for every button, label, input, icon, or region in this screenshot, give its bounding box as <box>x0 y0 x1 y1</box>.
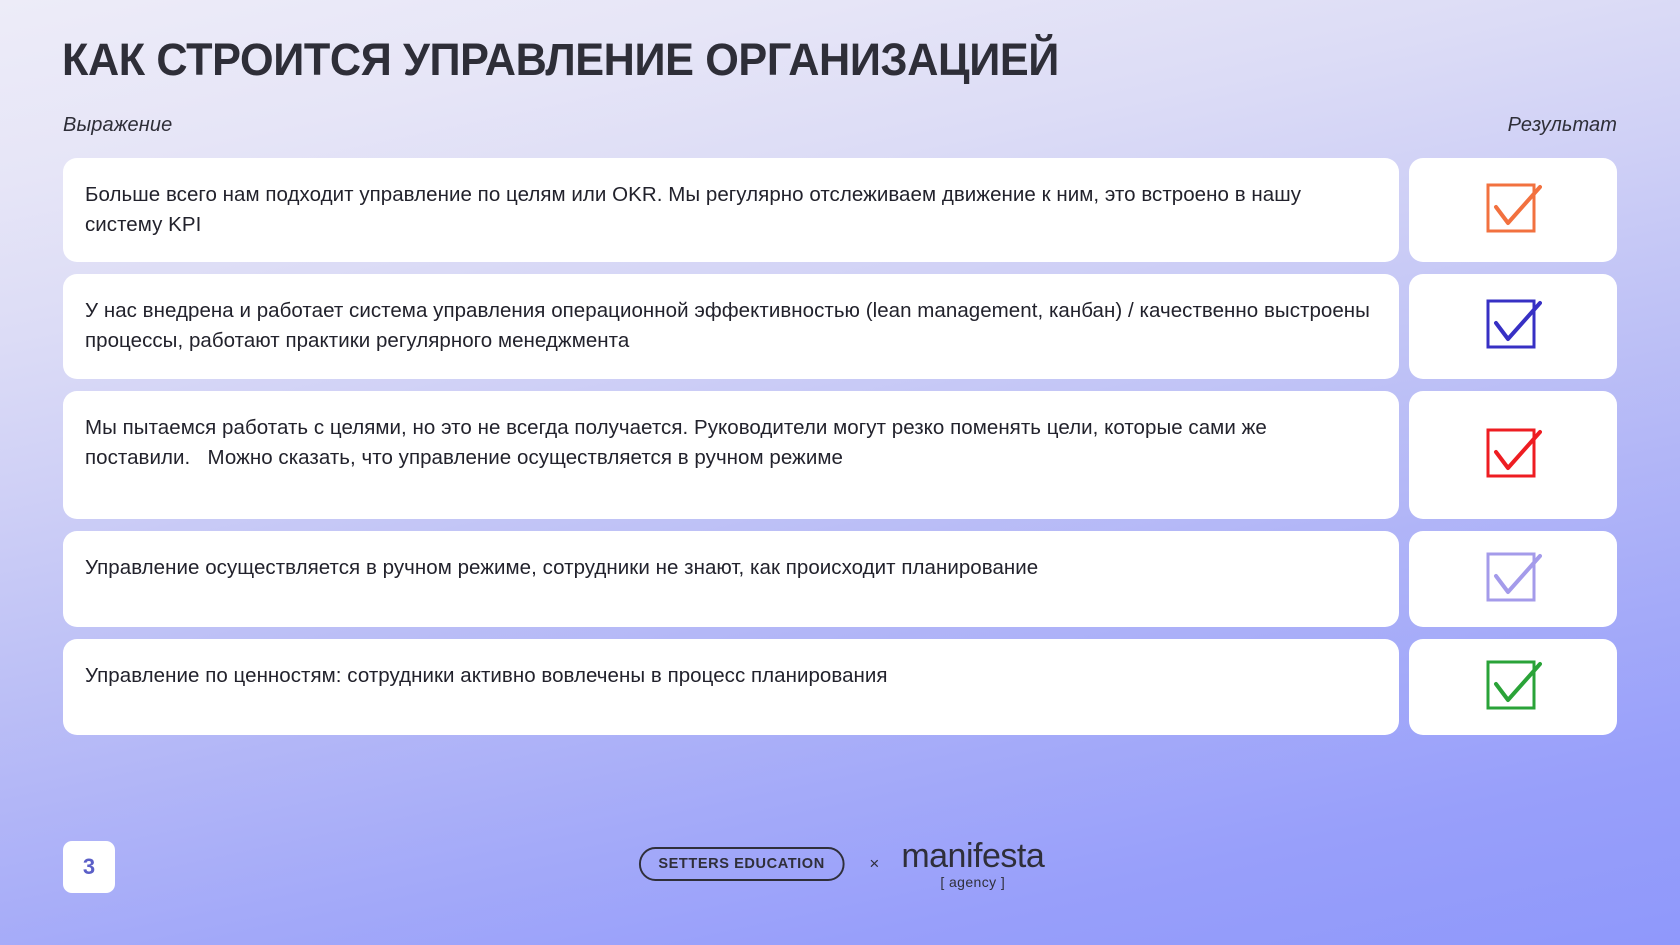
table-row: У нас внедрена и работает система управл… <box>63 274 1617 378</box>
footer-logos: SETTERS EDUCATION × manifesta [ agency ] <box>636 839 1044 889</box>
logo-separator-icon: × <box>869 854 879 874</box>
manifesta-logo: manifesta [ agency ] <box>901 839 1044 889</box>
checkbox-checked-icon[interactable] <box>1484 181 1542 239</box>
page-title: КАК СТРОИТСЯ УПРАВЛЕНИЕ ОРГАНИЗАЦИЕЙ <box>62 36 1059 83</box>
checkbox-checked-icon[interactable] <box>1484 426 1542 484</box>
row-expression-text: Мы пытаемся работать с целями, но это не… <box>63 391 1399 519</box>
checkbox-checked-icon[interactable] <box>1484 550 1542 608</box>
rows-container: Больше всего нам подходит управление по … <box>63 158 1617 747</box>
table-row: Управление осуществляется в ручном режим… <box>63 531 1617 627</box>
row-expression-text: У нас внедрена и работает система управл… <box>63 274 1399 378</box>
row-expression-text: Управление осуществляется в ручном режим… <box>63 531 1399 627</box>
checkbox-checked-icon[interactable] <box>1484 297 1542 355</box>
manifesta-wordmark: manifesta <box>901 839 1044 873</box>
row-result-cell[interactable] <box>1409 639 1617 735</box>
row-expression-text: Больше всего нам подходит управление по … <box>63 158 1399 262</box>
setters-education-logo: SETTERS EDUCATION <box>639 847 844 881</box>
slide: КАК СТРОИТСЯ УПРАВЛЕНИЕ ОРГАНИЗАЦИЕЙ Выр… <box>0 0 1680 945</box>
column-header-result: Результат <box>1508 114 1617 137</box>
table-row: Больше всего нам подходит управление по … <box>63 158 1617 262</box>
row-expression-text: Управление по ценностям: сотрудники акти… <box>63 639 1399 735</box>
checkbox-checked-icon[interactable] <box>1484 658 1542 716</box>
table-row: Управление по ценностям: сотрудники акти… <box>63 639 1617 735</box>
page-number-badge: 3 <box>63 841 115 893</box>
table-row: Мы пытаемся работать с целями, но это не… <box>63 391 1617 519</box>
row-result-cell[interactable] <box>1409 158 1617 262</box>
row-result-cell[interactable] <box>1409 391 1617 519</box>
row-result-cell[interactable] <box>1409 274 1617 378</box>
manifesta-tagline: [ agency ] <box>940 875 1005 889</box>
column-header-expression: Выражение <box>63 114 172 137</box>
row-result-cell[interactable] <box>1409 531 1617 627</box>
